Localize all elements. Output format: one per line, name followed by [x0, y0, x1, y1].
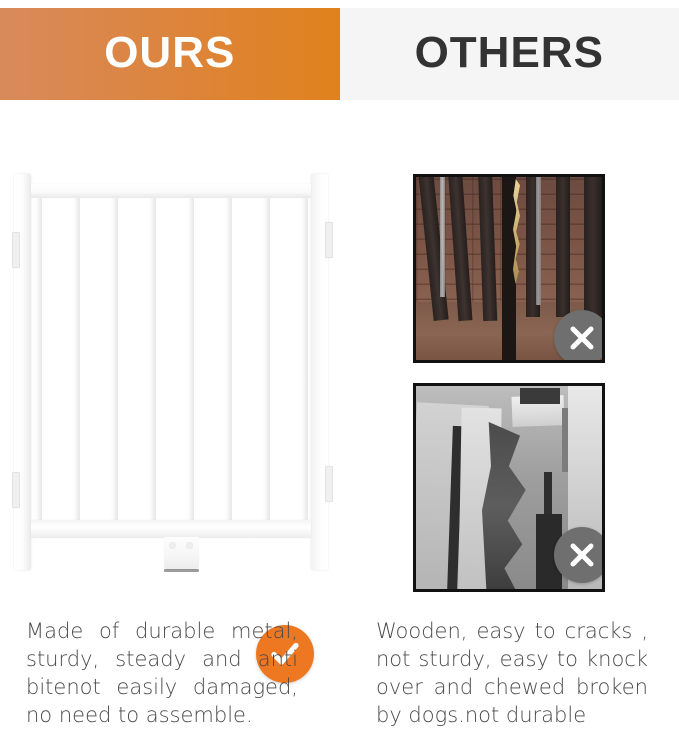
- gate-rail-bottom: [31, 520, 311, 538]
- gate-foot-base: [164, 569, 199, 572]
- cross-badge: [554, 310, 605, 363]
- background-shape: [520, 388, 560, 404]
- metal-gate-graphic: [14, 174, 328, 570]
- competitor-photo-1: [413, 174, 605, 363]
- comparison-body: Made of durable metal, sturdy, steady an…: [0, 100, 679, 728]
- metal-strip: [536, 177, 541, 305]
- gate-bar: [261, 198, 270, 520]
- header-ours-panel: OURS: [0, 8, 340, 100]
- gate-bars: [33, 198, 309, 520]
- gate-bar: [109, 198, 118, 520]
- header-others-label: OTHERS: [415, 31, 604, 75]
- competitor-photo-2: [413, 383, 605, 592]
- gate-bar: [71, 198, 80, 520]
- hinge-icon: [325, 466, 333, 502]
- wood-slat: [556, 177, 570, 317]
- gate-bar: [147, 198, 156, 520]
- ours-caption: Made of durable metal, sturdy, steady an…: [26, 618, 298, 730]
- comparison-infographic: OURS OTHERS: [0, 0, 679, 728]
- gate-post-left: [14, 174, 31, 570]
- cross-badge: [554, 527, 605, 583]
- header-others-panel: OTHERS: [340, 8, 679, 100]
- metal-strip: [440, 177, 445, 297]
- comparison-header: OURS OTHERS: [0, 8, 679, 100]
- others-caption: Wooden, easy to cracks , not sturdy, eas…: [376, 618, 648, 730]
- gate-bar: [299, 198, 308, 520]
- header-ours-label: OURS: [104, 31, 235, 75]
- screw-hole-icon: [169, 542, 176, 549]
- our-product-image: [0, 100, 340, 605]
- hinge-icon: [325, 222, 333, 258]
- hinge-icon: [12, 472, 20, 508]
- wood-slat: [584, 177, 602, 327]
- gate-rail-top: [31, 184, 311, 198]
- gate-bar: [223, 198, 232, 520]
- gate-post-right: [311, 174, 328, 570]
- cross-icon: [567, 323, 597, 353]
- hinge-icon: [12, 232, 20, 268]
- gate-foot-bracket: [164, 537, 199, 569]
- screw-hole-icon: [186, 542, 193, 549]
- gate-bar: [33, 198, 42, 520]
- gate-bar: [185, 198, 194, 520]
- cross-icon: [567, 540, 597, 570]
